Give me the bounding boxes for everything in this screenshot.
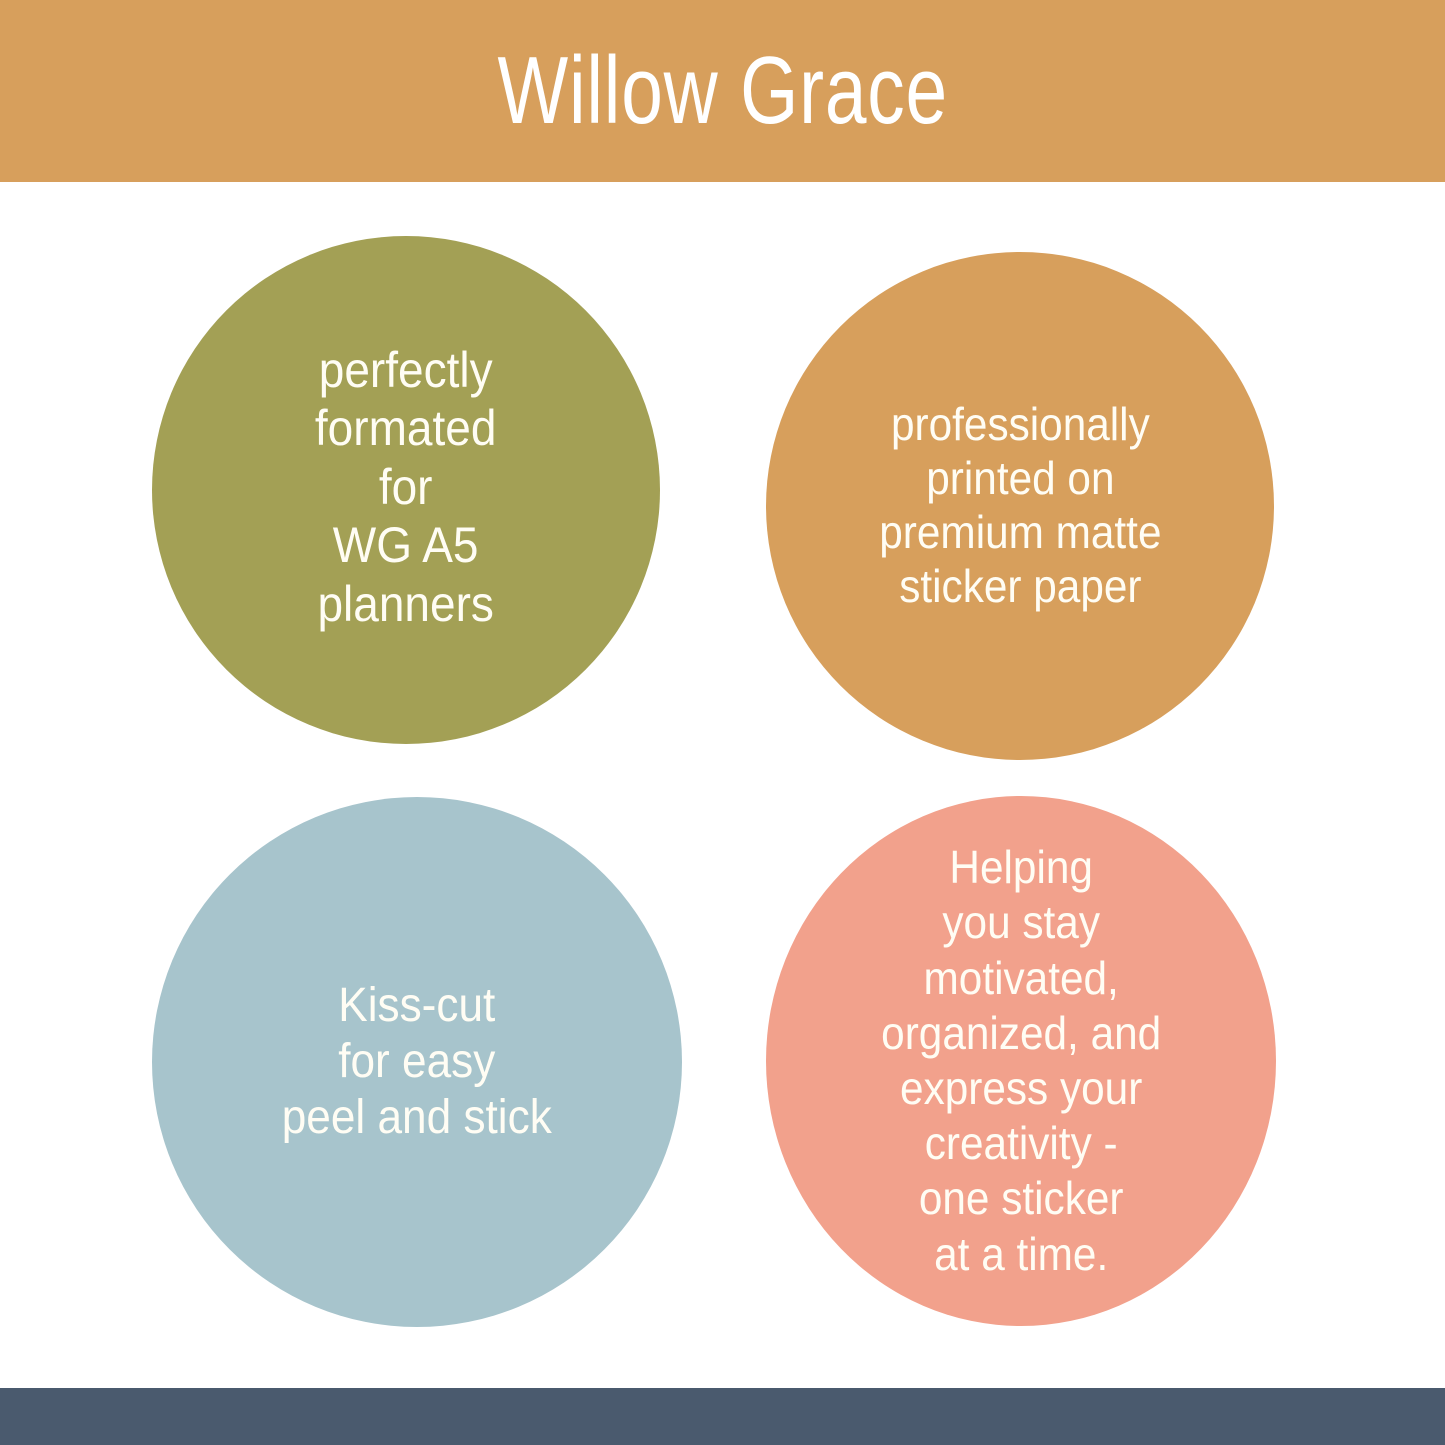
feature-text-printing: professionally printed on premium matte … [879, 398, 1161, 613]
feature-circle-kiss-cut: Kiss-cut for easy peel and stick [152, 797, 682, 1327]
feature-text-kiss-cut: Kiss-cut for easy peel and stick [282, 978, 552, 1146]
brand-title: Willow Grace [497, 43, 947, 139]
footer-band [0, 1388, 1445, 1445]
feature-circle-mission: Helping you stay motivated, organized, a… [766, 796, 1276, 1326]
feature-text-mission: Helping you stay motivated, organized, a… [881, 840, 1161, 1282]
feature-circle-printing: professionally printed on premium matte … [766, 252, 1274, 760]
promo-graphic: Willow Grace perfectly formated for WG A… [0, 0, 1445, 1445]
feature-text-formatting: perfectly formated for WG A5 planners [315, 341, 497, 640]
header-band: Willow Grace [0, 0, 1445, 182]
feature-circle-formatting: perfectly formated for WG A5 planners [152, 236, 660, 744]
